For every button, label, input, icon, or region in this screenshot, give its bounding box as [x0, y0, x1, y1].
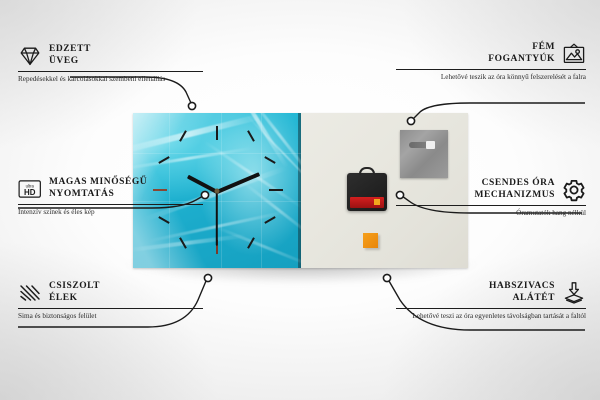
foam-pad-part — [363, 233, 378, 248]
hour-marker — [264, 156, 275, 164]
feature-title: HABSZIVACSALÁTÉT — [489, 281, 555, 304]
ultra-hd-icon: ultra HD — [18, 177, 42, 201]
feature-title: MAGAS MINŐSÉGŰNYOMTATÁS — [49, 177, 147, 200]
divider — [18, 204, 203, 205]
hour-marker — [264, 216, 275, 224]
hour-marker — [179, 130, 187, 141]
feature-title: CSENDES ÓRAMECHANIZMUS — [475, 178, 555, 201]
feature-title: CSISZOLTÉLEK — [49, 281, 100, 304]
connector-dot — [188, 102, 195, 109]
feature-description: Intenzív színek és éles kép — [18, 208, 203, 218]
feature-description: Lehetővé teszik az óra könnyű felszerelé… — [396, 73, 586, 83]
clock-movement-part — [347, 173, 387, 211]
feature-title: EDZETTÜVEG — [49, 44, 91, 67]
clock-hub — [215, 188, 220, 193]
metal-hanger-part — [400, 130, 448, 178]
feature-foam-spacer[interactable]: HABSZIVACSALÁTÉT Lehetővé teszi az óra e… — [396, 281, 586, 322]
feature-description: Repedésekkel és karcolásokkal szembeni e… — [18, 75, 203, 85]
infographic-canvas: EDZETTÜVEG Repedésekkel és karcolásokkal… — [0, 0, 600, 400]
polished-edge-icon — [18, 281, 42, 305]
feature-silent-mechanism[interactable]: CSENDES ÓRAMECHANIZMUS Óramutatók hang n… — [396, 178, 586, 219]
feature-description: Sima és biztonságos felület — [18, 312, 203, 322]
hour-marker — [179, 237, 187, 248]
divider — [18, 308, 203, 309]
hour-marker — [158, 156, 169, 164]
divider — [18, 71, 203, 72]
hour-marker — [247, 130, 255, 141]
divider — [396, 69, 586, 70]
feature-tempered-glass[interactable]: EDZETTÜVEG Repedésekkel és karcolásokkal… — [18, 44, 203, 85]
hour-marker — [216, 126, 218, 140]
divider — [396, 308, 586, 309]
foam-pad-icon — [562, 281, 586, 305]
hour-marker — [247, 237, 255, 248]
picture-hanger-icon — [562, 42, 586, 66]
feature-description: Óramutatók hang nélkül — [396, 209, 586, 219]
feature-high-quality-print[interactable]: ultra HD MAGAS MINŐSÉGŰNYOMTATÁS Intenzí… — [18, 177, 203, 218]
second-hand — [216, 192, 218, 246]
feature-description: Lehetővé teszi az óra egyenletes távolsá… — [396, 312, 586, 322]
hour-marker — [269, 189, 283, 191]
feature-title: FÉMFOGANTYÚK — [488, 42, 555, 65]
feature-polished-edges[interactable]: CSISZOLTÉLEK Sima és biztonságos felület — [18, 281, 203, 322]
svg-text:HD: HD — [24, 188, 36, 197]
diamond-icon — [18, 44, 42, 68]
minute-hand — [216, 172, 260, 194]
battery-part — [350, 197, 384, 208]
divider — [396, 205, 586, 206]
feature-metal-handles[interactable]: FÉMFOGANTYÚK Lehetővé teszik az óra könn… — [396, 42, 586, 83]
gear-icon — [562, 178, 586, 202]
